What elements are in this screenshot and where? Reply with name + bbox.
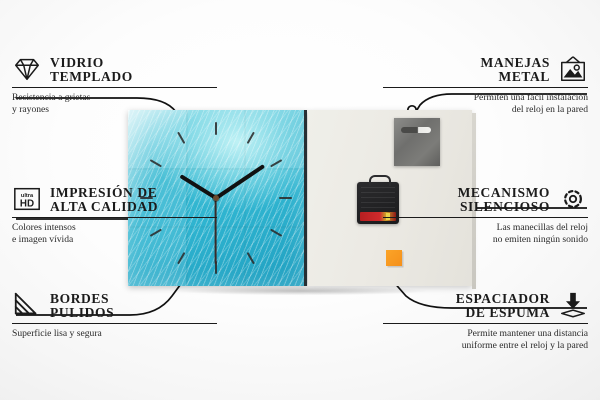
feature-vidrio-templado: VIDRIO TEMPLADO Resistencia a grietasy r… bbox=[12, 38, 217, 117]
feature-title-line1: ESPACIADOR bbox=[456, 292, 550, 306]
feature-title-line1: MANEJAS bbox=[481, 56, 550, 70]
infographic-canvas: VIDRIO TEMPLADO Resistencia a grietasy r… bbox=[0, 0, 600, 400]
ultra-hd-icon: ultra HD bbox=[12, 184, 42, 214]
feature-description: Permite mantener una distanciauniforme e… bbox=[383, 328, 588, 353]
feature-title-line1: MECANISMO bbox=[458, 186, 550, 200]
feature-mecanismo-silencioso: MECANISMO SILENCIOSO Las manecillas del … bbox=[383, 168, 588, 247]
feature-rule bbox=[383, 87, 588, 88]
feature-title-line2: ALTA CALIDAD bbox=[50, 200, 158, 214]
metal-hanger-plate bbox=[394, 118, 440, 166]
foam-spacer bbox=[386, 250, 402, 266]
clock-tick bbox=[215, 122, 217, 135]
feature-rule bbox=[12, 87, 217, 88]
feature-title-line2: PULIDOS bbox=[50, 306, 114, 320]
gear-icon bbox=[558, 184, 588, 214]
feature-manejas-metal: MANEJAS METAL Permiten una fácil instala… bbox=[383, 38, 588, 117]
diamond-icon bbox=[12, 54, 42, 84]
feature-title-line1: VIDRIO bbox=[50, 56, 133, 70]
feature-title-line1: BORDES bbox=[50, 292, 114, 306]
feature-title-line2: SILENCIOSO bbox=[458, 200, 550, 214]
feature-description: Las manecillas del relojno emiten ningún… bbox=[383, 222, 588, 247]
feature-espaciador-espuma: ESPACIADOR DE ESPUMA Permite mantener un… bbox=[383, 274, 588, 353]
picture-frame-hanging-icon bbox=[558, 54, 588, 84]
polished-edges-icon bbox=[12, 290, 42, 320]
feature-bordes-pulidos: BORDES PULIDOS Superficie lisa y segura bbox=[12, 274, 217, 340]
feature-rule bbox=[12, 217, 217, 218]
feature-description: Resistencia a grietasy rayones bbox=[12, 92, 217, 117]
feature-description: Colores intensose imagen vívida bbox=[12, 222, 217, 247]
arrow-down-stack-icon bbox=[558, 290, 588, 320]
feature-title-line2: METAL bbox=[481, 70, 550, 84]
feature-rule bbox=[383, 217, 588, 218]
feature-rule bbox=[12, 323, 217, 324]
feature-title-line2: TEMPLADO bbox=[50, 70, 133, 84]
feature-impresion-alta-calidad: ultra HD IMPRESIÓN DE ALTA CALIDAD Color… bbox=[12, 168, 217, 247]
feature-description: Superficie lisa y segura bbox=[12, 328, 217, 340]
feature-title-line1: IMPRESIÓN DE bbox=[50, 186, 158, 200]
feature-title-line2: DE ESPUMA bbox=[456, 306, 550, 320]
clock-tick bbox=[279, 197, 292, 199]
feature-rule bbox=[383, 323, 588, 324]
svg-text:HD: HD bbox=[20, 199, 34, 210]
hanger-slot bbox=[401, 127, 431, 133]
feature-description: Permiten una fácil instalacióndel reloj … bbox=[383, 92, 588, 117]
